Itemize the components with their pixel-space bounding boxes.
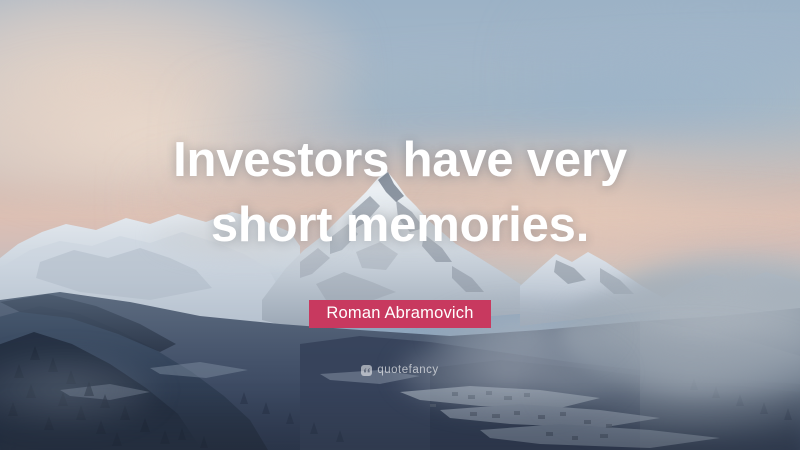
quote-poster: Investors have very short memories. Roma… xyxy=(0,0,800,450)
quote-mark-badge-icon xyxy=(361,365,372,376)
bottom-vignette xyxy=(0,390,800,450)
author-name-banner: Roman Abramovich xyxy=(309,300,490,328)
quote-text: Investors have very short memories. xyxy=(0,128,800,258)
watermark: quotefancy xyxy=(0,364,800,376)
author-banner-wrap: Roman Abramovich xyxy=(0,300,800,328)
watermark-text: quotefancy xyxy=(377,364,438,376)
